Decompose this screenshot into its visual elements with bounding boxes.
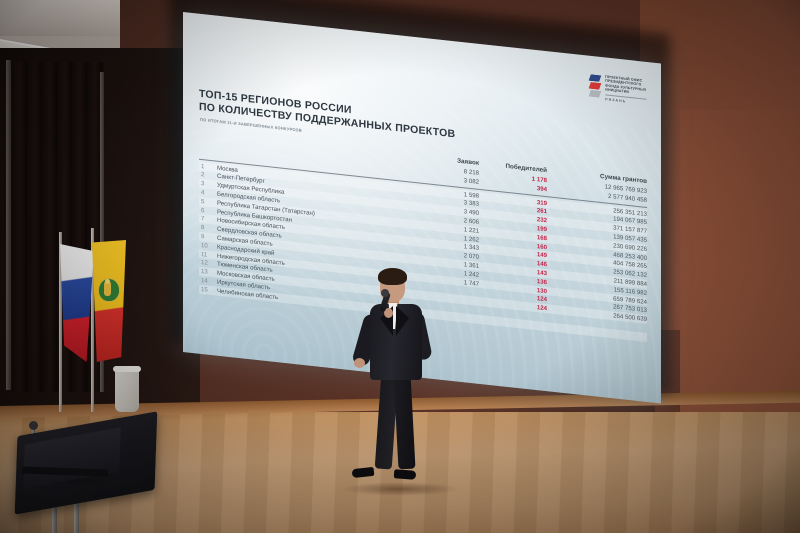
waste-bin bbox=[115, 368, 139, 412]
speaker-legs bbox=[374, 374, 418, 472]
logo-text-group: ПРОЕКТНЫЙ ОФИС ПРЕЗИДЕНТСКОГО ФОНДА КУЛЬ… bbox=[605, 75, 646, 105]
speaker-figure bbox=[352, 262, 444, 488]
tricolor-flag-icon bbox=[589, 74, 602, 99]
logo-organization-name: ПРОЕКТНЫЙ ОФИС ПРЕЗИДЕНТСКОГО ФОНДА КУЛЬ… bbox=[605, 75, 646, 97]
cell-rank: 15 bbox=[199, 285, 217, 294]
ceiling-secondary bbox=[0, 0, 120, 36]
curtain-rail-left bbox=[6, 60, 11, 390]
microphone-head-icon bbox=[381, 289, 389, 297]
waste-bin-lip bbox=[113, 366, 141, 372]
conference-stage-photo: ПРОЕКТНЫЙ ОФИС ПРЕЗИДЕНТСКОГО ФОНДА КУЛЬ… bbox=[0, 0, 800, 533]
mic-stand-head-icon bbox=[29, 421, 38, 430]
speaker-hair bbox=[378, 268, 407, 285]
cell-winners bbox=[485, 320, 555, 328]
speaker-right-shoe bbox=[394, 469, 417, 480]
speaker-left-hand bbox=[354, 358, 365, 368]
speaker-left-shoe bbox=[352, 467, 375, 478]
ryazan-coat-of-arms-icon bbox=[96, 276, 120, 302]
logo-city-name: РЯЗАНЬ bbox=[605, 94, 646, 105]
presidential-fund-logo: ПРОЕКТНЫЙ ОФИС ПРЕЗИДЕНТСКОГО ФОНДА КУЛЬ… bbox=[589, 73, 647, 105]
